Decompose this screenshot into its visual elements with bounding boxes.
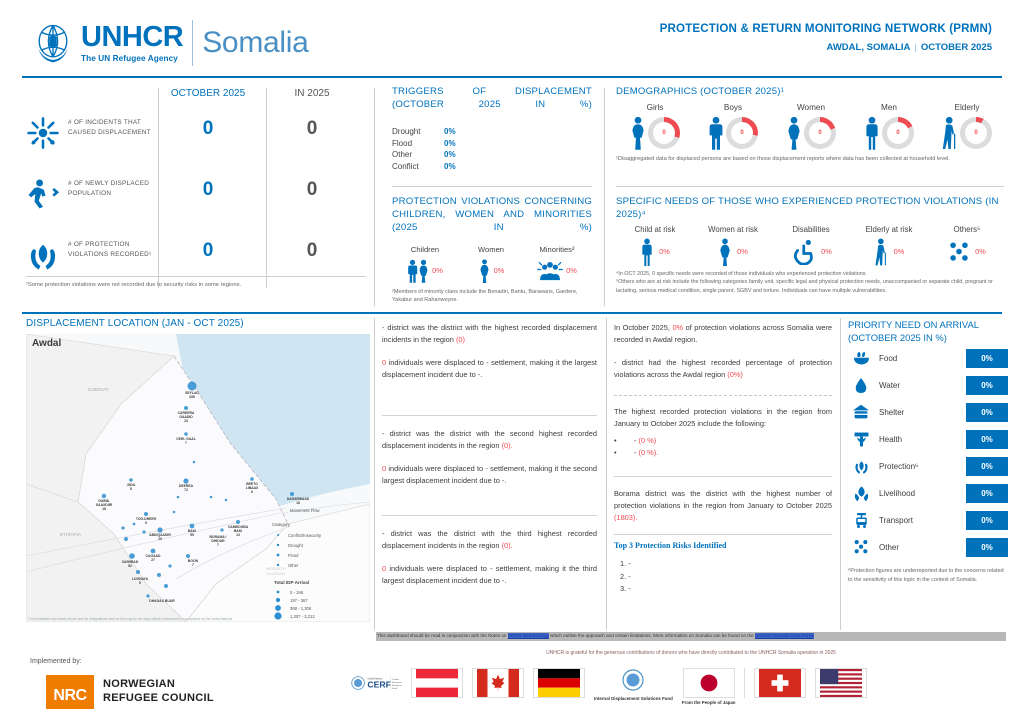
narrative-text: individuals were displaced to - settleme… [382, 358, 597, 379]
specific-needs-footnote-b: ⁵Others who are at risk include the foll… [616, 278, 1006, 295]
svg-text:Movement Flow: Movement Flow [290, 508, 321, 513]
trigger-value: 0% [444, 162, 456, 171]
trigger-label: Other [392, 150, 444, 159]
kpi-displaced-month: 0 [158, 179, 258, 201]
country-title: Somalia [202, 26, 308, 60]
bullet-label: - [634, 447, 636, 460]
sn-cell-disabilities: Disabilities 0% [772, 225, 850, 267]
person-running-icon [26, 177, 60, 211]
svg-text:52: 52 [128, 564, 132, 568]
pvc-value: 0% [566, 266, 577, 275]
svg-text:GALBEED: GALBEED [266, 571, 285, 576]
sn-label: Women at risk [694, 225, 772, 234]
triggers-rule [392, 186, 592, 187]
lower-divider-2 [606, 318, 607, 630]
livelihood-icon [853, 485, 870, 502]
priority-need-value: 0% [966, 457, 1008, 476]
demographics-cell-boys: Boys 0 [694, 103, 772, 152]
somalia-data-portal-link[interactable]: UNHCR Somalia Data Portal [755, 633, 814, 638]
map-svg[interactable]: DJIBOUTI ETHIOPIA WOQOOYI GALBEED [26, 334, 370, 622]
grid-divider-2 [604, 88, 605, 306]
woman-icon [718, 238, 732, 266]
priority-need-label: Health [874, 435, 966, 444]
lower-divider-1 [374, 318, 375, 630]
map-canvas[interactable]: DJIBOUTI ETHIOPIA WOQOOYI GALBEED [26, 334, 370, 622]
page-header: UNHCR The UN Refugee Agency Somalia PROT… [0, 0, 1024, 78]
kpi-footnote: ¹Some protection violations were not rec… [26, 282, 366, 288]
elderly-donut-chart: 0 [960, 117, 992, 149]
svg-text:7: 7 [192, 563, 194, 567]
priority-need-label: Water [874, 381, 966, 390]
protection-hands-icon [853, 458, 870, 475]
trigger-label: Conflict [392, 162, 444, 171]
donor-usa [815, 668, 867, 698]
header-subtitle: AWDAL, SOMALIA|OCTOBER 2025 [660, 42, 992, 53]
priority-need-label: Transport [874, 516, 966, 525]
svg-text:6: 6 [251, 490, 253, 494]
boys-donut-chart: 0 [726, 117, 758, 149]
demographics-label: Men [850, 103, 928, 112]
priority-need-row-water: Water 0% [848, 372, 1008, 398]
priority-need-value: 0% [966, 484, 1008, 503]
priority-need-value: 0% [966, 430, 1008, 449]
pvc-cell-minorities: Minorities² 0% [524, 245, 590, 284]
narrative-value: 0% [672, 323, 683, 332]
svg-text:368 - 1,306: 368 - 1,306 [290, 606, 312, 611]
pn-divider-1 [614, 395, 832, 396]
pn-paragraph-2: - district had the highest recorded perc… [614, 357, 832, 381]
svg-text:7: 7 [217, 543, 219, 547]
svg-text:24: 24 [184, 419, 188, 423]
sn-label: Child at risk [616, 225, 694, 234]
sn-cell-others: Others⁵ 0% [928, 225, 1006, 267]
pn-bullet: • - (0 %). [614, 447, 832, 460]
kpi-violations-year: 0 [266, 240, 358, 262]
kpi-col-month: OCTOBER 2025 [158, 88, 258, 99]
demographics-label: Boys [694, 103, 772, 112]
bullet-value: (0 %). [639, 447, 659, 460]
nrc-mark: NRC [46, 675, 94, 709]
narrative-block-1a: - district was the district with the hig… [382, 322, 597, 346]
narrative-value: 0 [382, 564, 386, 573]
incident-burst-icon [26, 116, 60, 150]
demographics-label: Elderly [928, 103, 1006, 112]
priority-need-row-other: Other 0% [848, 534, 1008, 560]
svg-text:Drought: Drought [288, 543, 304, 548]
wheelchair-icon [790, 239, 816, 265]
transport-icon [854, 512, 869, 529]
kpi-label-displaced: # OF NEWLY DISPLACED POPULATION [68, 179, 152, 199]
narrative-text: - district was the district with the hig… [382, 323, 597, 344]
trigger-row: Conflict 0% [392, 160, 592, 172]
pvc-footnote: ²Members of minority clans include the B… [392, 288, 592, 305]
narrative-block-3a: - district was the district with the thi… [382, 528, 597, 552]
narrative-text: - district had the highest recorded perc… [614, 358, 832, 379]
disclaimer-text: which outline the approach and certain l… [550, 633, 754, 638]
donor-logos: CERF United Nations Central Emergency Re… [350, 668, 870, 706]
priority-need-row-health: Health 0% [848, 426, 1008, 452]
idsf-caption: Internal Displacement Solutions Fund [594, 696, 673, 702]
demographics-panel: DEMOGRAPHICS (OCTOBER 2025)¹ Girls 0 Boy… [616, 86, 1006, 163]
svg-text:United Nations: United Nations [367, 678, 383, 681]
narrative-block-1b: 0 individuals were displaced to - settle… [382, 357, 597, 381]
priority-need-row-transport: Transport 0% [848, 507, 1008, 533]
pvc-row: Children 0% Women 0% Minorities² [392, 245, 592, 284]
child-icon [640, 238, 654, 266]
displacement-narrative: - district was the district with the hig… [382, 322, 597, 587]
narrative-value: 0 [382, 358, 386, 367]
priority-need-row-protection: Protection⁶ 0% [848, 453, 1008, 479]
trigger-value: 0% [444, 150, 456, 159]
priority-need-row-shelter: Shelter 0% [848, 399, 1008, 425]
donor-thanks: UNHCR is grateful for the generous contr… [376, 650, 1006, 656]
svg-text:Total IDP Arrival: Total IDP Arrival [274, 580, 309, 585]
pvc-label: Children [392, 245, 458, 254]
svg-text:59: 59 [190, 533, 194, 537]
kpi-incidents-month: 0 [158, 118, 258, 140]
women-donut-chart: 0 [804, 117, 836, 149]
shelter-house-icon [852, 404, 870, 420]
donor-austria [411, 668, 463, 698]
kpi-violations-month: 0 [158, 240, 258, 262]
demographics-cell-women: Women 0 [772, 103, 850, 152]
kpi-col-year: IN 2025 [266, 88, 358, 99]
unhcr-wordmark: UNHCR The UN Refugee Agency [81, 23, 183, 63]
demographics-rule [616, 186, 1004, 187]
narrative-text: - district was the district with the thi… [382, 529, 597, 550]
specific-needs-panel: SPECIFIC NEEDS OF THOSE WHO EXPERIENCED … [616, 196, 1006, 295]
nrc-logo: NRC NORWEGIANREFUGEE COUNCIL [46, 675, 214, 709]
pn-paragraph-4: Borama district was the district with th… [614, 488, 832, 524]
priority-need-row-livelihood: Livelihood 0% [848, 480, 1008, 506]
priority-need-label: Protection⁶ [874, 462, 966, 471]
protection-hands-icon [26, 238, 60, 272]
woman-icon [786, 116, 802, 150]
narrative-block-2a: - district was the district with the sec… [382, 428, 597, 452]
triggers-panel: TRIGGERS OF DISPLACEMENT (OCTOBER 2025 I… [392, 86, 592, 172]
unhcr-name: UNHCR [81, 23, 183, 52]
pvc-cell-children: Children 0% [392, 245, 458, 284]
canada-flag-icon [472, 668, 524, 698]
food-bowl-icon [853, 351, 870, 366]
pvc-label: Minorities² [524, 245, 590, 254]
boys-value: 0 [731, 122, 753, 144]
svg-text:5: 5 [139, 581, 141, 585]
priority-need-label: Shelter [874, 408, 966, 417]
narrative-text: Borama district was the district with th… [614, 489, 832, 510]
svg-text:72: 72 [184, 488, 188, 492]
triggers-title: TRIGGERS OF DISPLACEMENT (OCTOBER 2025 I… [392, 86, 592, 112]
risk-item: 3. - [620, 583, 832, 596]
specific-needs-footnote-a: ⁴In OCT 2025, 0 specific needs were reco… [616, 270, 1006, 278]
narrative-block-2b: 0 individuals were displaced to - settle… [382, 463, 597, 487]
others-dots-icon [948, 241, 970, 263]
risk-item: 1. - [620, 558, 832, 571]
unhcr-tagline: The UN Refugee Agency [81, 54, 183, 63]
svg-text:9: 9 [145, 521, 147, 525]
woman-icon [478, 259, 491, 283]
svg-text:Fund: Fund [392, 688, 398, 690]
trigger-label: Drought [392, 127, 444, 136]
narrative-text: - district was the district with the sec… [382, 429, 597, 450]
pn-paragraph-3: The highest recorded protection violatio… [614, 406, 832, 430]
usa-flag-icon [815, 668, 867, 698]
svg-text:Emergency: Emergency [392, 681, 402, 684]
kpi-label-incidents: # OF INCIDENTS THAT CAUSED DISPLACEMENT [68, 118, 152, 138]
japan-caption: From the People of Japan [682, 700, 736, 706]
svg-text:0 - 196: 0 - 196 [290, 590, 304, 595]
sn-value: 0% [894, 247, 905, 256]
header-title-block: PROTECTION & RETURN MONITORING NETWORK (… [660, 22, 992, 53]
demographics-cell-girls: Girls 0 [616, 103, 694, 152]
donor-japan: From the People of Japan [682, 668, 736, 706]
sn-label: Elderly at risk [850, 225, 928, 234]
narrative-text: individuals were displaced to - settleme… [382, 464, 597, 485]
svg-text:Flood: Flood [288, 553, 299, 558]
page-title: PROTECTION & RETURN MONITORING NETWORK (… [660, 22, 992, 35]
footer-disclaimer: This dashboard should be read in conjunc… [376, 632, 1006, 641]
priority-need-value: 0% [966, 376, 1008, 395]
children-icon [407, 259, 429, 283]
svg-text:CERF: CERF [367, 680, 391, 690]
germany-flag-icon [533, 668, 585, 698]
elderly-icon [942, 116, 958, 150]
japan-flag-icon [683, 668, 735, 698]
svg-text:197 - 367: 197 - 367 [290, 598, 308, 603]
priority-needs-footnote: ⁶Protection figures are underreported du… [848, 567, 1008, 584]
sn-value: 0% [975, 247, 986, 256]
svg-text:Category: Category [272, 522, 291, 527]
girls-value: 0 [653, 122, 675, 144]
narrative-value: (0) [456, 335, 465, 344]
nrc-name: NORWEGIANREFUGEE COUNCIL [103, 678, 214, 706]
protection-narrative: In October 2025, 0% of protection violat… [614, 322, 832, 596]
trigger-row: Flood 0% [392, 137, 592, 149]
sn-cell-child: Child at risk 0% [616, 225, 694, 267]
lower-divider-3 [840, 318, 841, 630]
elderly-icon [874, 238, 889, 266]
protection-risks-title: Top 3 Protection Risks Identified [614, 541, 832, 550]
donor-cerf: CERF United Nations Central Emergency Re… [350, 668, 402, 698]
donor-separator [744, 668, 745, 698]
unhcr-emblem-icon [30, 20, 76, 66]
map-region-label: Awdal [32, 338, 61, 349]
section-rule [22, 312, 1002, 314]
demographics-label: Women [772, 103, 850, 112]
pvc-value: 0% [432, 266, 443, 275]
men-value: 0 [887, 122, 909, 144]
sn-cell-elderly: Elderly at risk 0% [850, 225, 928, 267]
narrative-value: (0). [502, 441, 513, 450]
kpi-label-violations: # OF PROTECTION VIOLATIONS RECORDED¹ [68, 240, 152, 260]
pn-divider-3 [614, 534, 832, 535]
narrative-value: (0). [502, 541, 513, 550]
displacement-map-panel: DISPLACEMENT LOCATION (JAN - OCT 2025) D… [26, 318, 370, 636]
priority-need-value: 0% [966, 403, 1008, 422]
donor-canada [472, 668, 524, 698]
minorities-group-icon [537, 260, 563, 282]
kpi-incidents-year: 0 [266, 118, 358, 140]
kpi-row-violations: # OF PROTECTION VIOLATIONS RECORDED¹ 0 0 [26, 230, 366, 288]
kpi-row-incidents: # OF INCIDENTS THAT CAUSED DISPLACEMENT … [26, 108, 366, 166]
svg-text:Conflict/Insecurity: Conflict/Insecurity [288, 533, 322, 538]
svg-text:Response: Response [392, 685, 402, 687]
kpi-row-displaced: # OF NEWLY DISPLACED POPULATION 0 0 [26, 169, 366, 227]
sn-value: 0% [821, 247, 832, 256]
donor-idsf: Internal Displacement Solutions Fund [594, 668, 673, 702]
men-donut-chart: 0 [882, 117, 914, 149]
health-icon [853, 431, 870, 448]
kpi-bottom-rule [26, 276, 366, 277]
sn-cell-women: Women at risk 0% [694, 225, 772, 267]
others-dots-icon [853, 539, 869, 555]
trigger-value: 0% [444, 139, 456, 148]
prmn-methodology-link[interactable]: PRMN Methodology [508, 633, 549, 638]
kpi-displaced-year: 0 [266, 179, 358, 201]
header-separator: | [914, 42, 916, 53]
pn-paragraph-1: In October 2025, 0% of protection violat… [614, 322, 832, 346]
donor-switzerland [754, 668, 806, 698]
svg-text:ETHIOPIA: ETHIOPIA [60, 532, 81, 537]
kpi-panel: OCTOBER 2025 IN 2025 # OF INCIDENTS THAT… [26, 86, 366, 291]
water-drop-icon [855, 377, 867, 394]
women-value: 0 [809, 122, 831, 144]
header-region: AWDAL, SOMALIA [827, 42, 911, 53]
austria-flag-icon [411, 668, 463, 698]
svg-text:27: 27 [151, 558, 155, 562]
girls-donut-chart: 0 [648, 117, 680, 149]
triggers-list: Drought 0% Flood 0% Other 0% Conflict 0% [392, 126, 592, 172]
priority-need-label: Food [874, 354, 966, 363]
map-credit: The boundaries and names shown and the d… [28, 617, 233, 621]
priority-need-value: 0% [966, 349, 1008, 368]
sn-value: 0% [737, 247, 748, 256]
narrative-block-3b: 0 individuals were displaced to - settle… [382, 563, 597, 587]
narrative-value: (0%) [727, 370, 743, 379]
priority-needs-title: PRIORITY NEED ON ARRIVAL (OCTOBER 2025 I… [848, 318, 1008, 344]
bullet-marker: • [614, 435, 634, 448]
priority-need-value: 0% [966, 538, 1008, 557]
trigger-row: Drought 0% [392, 126, 592, 138]
svg-text:335: 335 [189, 395, 195, 399]
bullet-label: - [634, 435, 636, 448]
narrative-divider-1 [382, 415, 597, 416]
priority-need-value: 0% [966, 511, 1008, 530]
priority-need-label: Other [874, 543, 966, 552]
girl-icon [630, 116, 646, 150]
specific-needs-title: SPECIFIC NEEDS OF THOSE WHO EXPERIENCED … [616, 196, 1006, 222]
pvc-cell-women: Women 0% [458, 245, 524, 284]
header-rule [22, 76, 1002, 78]
svg-text:Central: Central [392, 678, 399, 681]
implemented-by-label: Implemented by: [30, 658, 82, 665]
sn-label: Others⁵ [928, 225, 1006, 234]
risk-item: 2. - [620, 571, 832, 584]
priority-needs-panel: PRIORITY NEED ON ARRIVAL (OCTOBER 2025 I… [848, 318, 1008, 584]
trigger-row: Other 0% [392, 149, 592, 161]
switzerland-flag-icon [754, 668, 806, 698]
demographics-label: Girls [616, 103, 694, 112]
trigger-label: Flood [392, 139, 444, 148]
demographics-cell-elderly: Elderly 0 [928, 103, 1006, 152]
unhcr-logo: UNHCR The UN Refugee Agency Somalia [30, 20, 309, 66]
narrative-text: individuals were displaced to - settleme… [382, 564, 597, 585]
boy-icon [708, 116, 724, 150]
sn-label: Disabilities [772, 225, 850, 234]
demographics-footnote: ¹Disaggregated data for displaced person… [616, 155, 996, 163]
svg-text:15: 15 [296, 501, 300, 505]
pvc-value: 0% [494, 266, 505, 275]
disclaimer-text: This dashboard should be read in conjunc… [377, 633, 506, 638]
pn-bullet: • - (0 %) [614, 435, 832, 448]
svg-text:13: 13 [236, 533, 240, 537]
svg-text:7: 7 [185, 441, 187, 445]
demographics-row: Girls 0 Boys 0 Women [616, 103, 1006, 152]
trigger-value: 0% [444, 127, 456, 136]
logo-divider [192, 20, 193, 66]
demographics-title: DEMOGRAPHICS (OCTOBER 2025)¹ [616, 86, 1006, 99]
narrative-divider-2 [382, 515, 597, 516]
specific-needs-row: Child at risk 0% Women at risk 0% Disabi… [616, 225, 1006, 267]
bullet-value: (0 %) [639, 435, 657, 448]
elderly-value: 0 [965, 122, 987, 144]
kpi-header: OCTOBER 2025 IN 2025 [26, 86, 366, 108]
narrative-text: In October 2025, [614, 323, 670, 332]
pn-divider-2 [614, 476, 832, 477]
pvc-title: PROTECTION VIOLATIONS CONCERNING CHILDRE… [392, 196, 592, 235]
map-title: DISPLACEMENT LOCATION (JAN - OCT 2025) [26, 318, 370, 329]
svg-text:Other: Other [288, 563, 299, 568]
cerf-logo-icon: CERF United Nations Central Emergency Re… [350, 668, 402, 698]
un-emblem-icon [607, 668, 659, 694]
priority-need-row-food: Food 0% [848, 345, 1008, 371]
priority-need-label: Livelihood [874, 489, 966, 498]
svg-text:1,307 - 3,212: 1,307 - 3,212 [290, 614, 315, 619]
svg-text:DHAGAX BUUR: DHAGAX BUUR [149, 599, 175, 603]
man-icon [864, 116, 880, 150]
header-period: OCTOBER 2025 [921, 42, 992, 53]
protection-violations-panel: PROTECTION VIOLATIONS CONCERNING CHILDRE… [392, 196, 592, 305]
svg-text:DJIBOUTI: DJIBOUTI [88, 387, 109, 392]
narrative-value: (1803). [614, 513, 637, 522]
svg-text:18: 18 [102, 507, 106, 511]
pvc-label: Women [458, 245, 524, 254]
grid-divider-1 [374, 88, 375, 306]
demographics-cell-men: Men 0 [850, 103, 928, 152]
donor-germany [533, 668, 585, 698]
bullet-marker: • [614, 447, 634, 460]
svg-text:8: 8 [130, 487, 132, 491]
sn-value: 0% [659, 247, 670, 256]
svg-text:29: 29 [158, 537, 162, 541]
narrative-value: 0 [382, 464, 386, 473]
